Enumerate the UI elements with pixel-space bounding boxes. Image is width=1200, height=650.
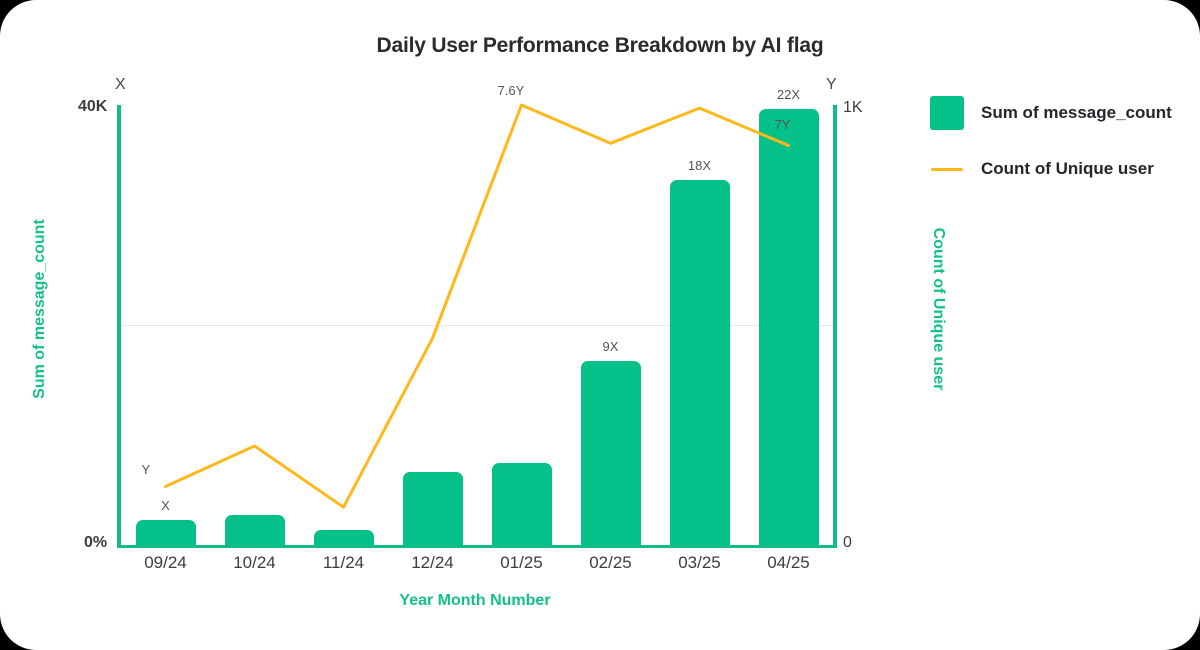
line-value-label: Y <box>142 462 151 477</box>
bar-11-24[interactable] <box>314 530 374 545</box>
x-tick-10-24: 10/24 <box>210 553 300 573</box>
bar-value-label: 9X <box>571 339 651 354</box>
x-tick-11-24: 11/24 <box>299 553 389 573</box>
x-tick-09-24: 09/24 <box>121 553 211 573</box>
x-tick-03-25: 03/25 <box>655 553 745 573</box>
legend-item-label: Sum of message_count <box>981 103 1172 123</box>
bar-12-24[interactable] <box>403 472 463 545</box>
bar-02-25[interactable] <box>581 361 641 545</box>
bar-value-label: X <box>126 498 206 513</box>
left-axis-corner-letter: X <box>115 76 126 94</box>
bar-01-25[interactable] <box>492 463 552 546</box>
page-title: Daily User Performance Breakdown by AI f… <box>0 34 1200 58</box>
bar-value-label: 18X <box>660 158 740 173</box>
left-axis-tick-bottom: 0% <box>84 534 107 552</box>
bar-10-24[interactable] <box>225 515 285 545</box>
x-tick-02-25: 02/25 <box>566 553 656 573</box>
legend-line-swatch-icon <box>930 152 964 186</box>
x-axis-title: Year Month Number <box>0 592 950 610</box>
x-tick-01-25: 01/25 <box>477 553 567 573</box>
line-value-label: 7Y <box>775 117 791 132</box>
x-tick-12-24: 12/24 <box>388 553 478 573</box>
x-axis-line <box>117 545 837 548</box>
legend-item-label: Count of Unique user <box>981 159 1154 179</box>
chart-card: Daily User Performance Breakdown by AI f… <box>0 0 1200 650</box>
bar-09-24[interactable] <box>136 520 196 545</box>
right-axis-tick-top: 1K <box>843 99 863 117</box>
right-axis-line <box>833 105 837 546</box>
bar-value-label: 22X <box>749 87 829 102</box>
legend-item-unique-user[interactable]: Count of Unique user <box>930 152 1180 186</box>
legend-square-swatch-icon <box>930 96 964 130</box>
right-axis-tick-bottom: 0 <box>843 534 852 552</box>
bar-04-25[interactable] <box>759 109 819 545</box>
line-value-label: 7.6Y <box>498 83 525 98</box>
legend: Sum of message_count Count of Unique use… <box>930 96 1180 208</box>
left-axis-title: Sum of message_count <box>31 189 49 429</box>
right-axis-title: Count of Unique user <box>929 189 947 429</box>
left-axis-tick-top: 40K <box>78 98 107 116</box>
x-tick-04-25: 04/25 <box>744 553 834 573</box>
bar-03-25[interactable] <box>670 180 730 545</box>
legend-item-message-count[interactable]: Sum of message_count <box>930 96 1180 130</box>
